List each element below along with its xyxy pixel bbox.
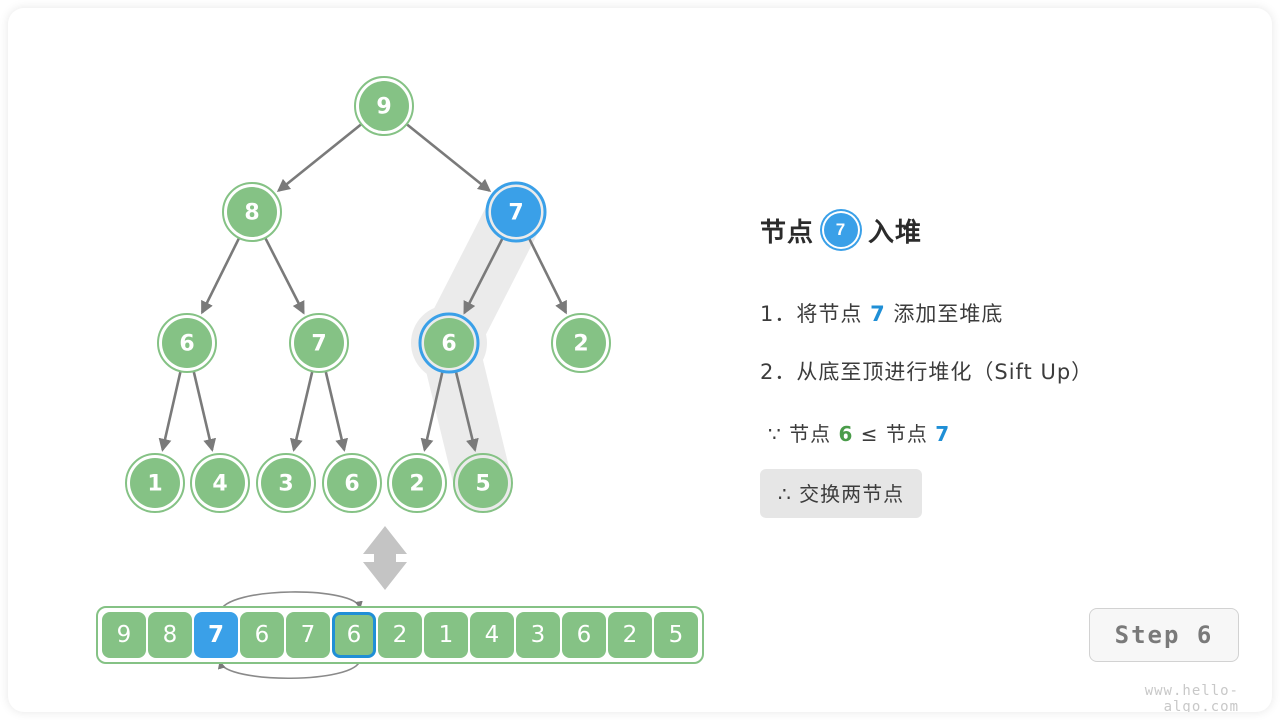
step-2-text: 2．从底至顶进行堆化（Sift Up） <box>760 356 1240 386</box>
tree-node <box>290 314 348 372</box>
node-value-label: 2 <box>573 332 588 357</box>
tree-node <box>388 454 446 512</box>
panel-title: 节点 7 入堆 <box>760 208 1240 252</box>
node-outer-ring <box>323 454 381 512</box>
tree-edge <box>464 238 502 313</box>
reason-value-child: 6 <box>838 422 853 446</box>
array-cell: 2 <box>608 612 652 658</box>
tree-edge <box>326 371 345 450</box>
node-value-label: 7 <box>311 332 326 357</box>
tree-node <box>355 77 413 135</box>
array-cell: 4 <box>470 612 514 658</box>
tree-node <box>158 314 216 372</box>
node-outer-ring <box>223 183 281 241</box>
node-circle <box>130 458 180 508</box>
node-outer-ring <box>420 314 478 372</box>
tree-edge <box>425 371 443 450</box>
tree-edge <box>265 238 303 313</box>
node-value-label: 6 <box>344 472 359 497</box>
node-circle <box>424 318 474 368</box>
tree-edge <box>163 371 181 450</box>
step-1-value: 7 <box>870 302 886 326</box>
node-value-label: 9 <box>376 95 391 120</box>
step-1-part-a: 1．将节点 <box>760 302 862 326</box>
tree-node <box>454 454 512 512</box>
node-value-label: 5 <box>475 472 490 497</box>
node-circle <box>294 318 344 368</box>
node-outer-ring <box>158 314 216 372</box>
tree-edge <box>294 371 313 450</box>
array-cell: 9 <box>102 612 146 658</box>
node-circle <box>359 81 409 131</box>
tree-array-link-arrow <box>363 526 407 590</box>
node-outer-ring <box>126 454 184 512</box>
reason-value-parent: 7 <box>935 422 950 446</box>
array-cell: 1 <box>424 612 468 658</box>
node-circle <box>261 458 311 508</box>
node-outer-ring <box>552 314 610 372</box>
node-value-label: 6 <box>441 332 456 357</box>
tree-edge <box>279 124 362 191</box>
node-value-label: 7 <box>508 201 523 226</box>
step-badge: Step 6 <box>1089 608 1239 662</box>
tree-edges <box>163 124 566 450</box>
heap-array: 9876762143625 <box>96 606 704 664</box>
sift-up-highlight-band <box>411 212 516 483</box>
reason-part-b: 节点 <box>886 422 928 446</box>
conclusion-badge: ∴ 交换两节点 <box>760 469 922 518</box>
array-cell: 2 <box>378 612 422 658</box>
reason-text: ∵ 节点 6 ≤ 节点 7 <box>768 418 1240 447</box>
node-outer-ring <box>388 454 446 512</box>
tree-node <box>191 454 249 512</box>
explanation-panel: 节点 7 入堆 1．将节点 7 添加至堆底 2．从底至顶进行堆化（Sift Up… <box>760 208 1240 518</box>
array-cell: 7 <box>194 612 238 658</box>
tree-nodes <box>126 77 610 512</box>
tree-edge <box>194 371 213 450</box>
tree-edge <box>529 238 566 313</box>
node-value-label: 4 <box>212 472 227 497</box>
tree-node <box>323 454 381 512</box>
array-cell: 5 <box>654 612 698 658</box>
reason-part-a: 节点 <box>789 422 831 446</box>
reason-operator: ≤ <box>861 422 879 446</box>
node-circle <box>392 458 442 508</box>
node-circle <box>162 318 212 368</box>
slide-card: 9876762143625 节点 7 入堆 1．将节点 7 添加至堆底 2．从底… <box>8 8 1272 712</box>
panel-title-prefix: 节点 <box>760 212 814 249</box>
diagram-stage: 9876762143625 节点 7 入堆 1．将节点 7 添加至堆底 2．从底… <box>8 8 1272 712</box>
node-value-label: 8 <box>244 201 259 226</box>
node-value-label: 3 <box>278 472 293 497</box>
tree-node <box>257 454 315 512</box>
node-outer-ring <box>454 454 512 512</box>
array-cell: 6 <box>562 612 606 658</box>
tree-node <box>223 183 281 241</box>
step-1-text: 1．将节点 7 添加至堆底 <box>760 298 1240 328</box>
array-cell: 3 <box>516 612 560 658</box>
node-value-label: 1 <box>147 472 162 497</box>
watermark: www.hello-algo.com <box>1077 683 1239 712</box>
node-outer-ring <box>257 454 315 512</box>
tree-node <box>126 454 184 512</box>
array-cell: 6 <box>240 612 284 658</box>
panel-title-suffix: 入堆 <box>868 212 922 249</box>
tree-node <box>420 314 478 372</box>
node-outer-ring <box>290 314 348 372</box>
node-circle <box>195 458 245 508</box>
array-cell: 8 <box>148 612 192 658</box>
array-cell: 7 <box>286 612 330 658</box>
panel-title-node-badge: 7 <box>824 213 858 247</box>
tree-edge <box>456 371 475 450</box>
node-outer-ring <box>355 77 413 135</box>
node-circle <box>556 318 606 368</box>
node-circle <box>227 187 277 237</box>
node-circle <box>458 458 508 508</box>
node-outer-ring <box>191 454 249 512</box>
node-value-label: 6 <box>179 332 194 357</box>
tree-node <box>487 183 545 241</box>
step-1-part-b: 添加至堆底 <box>893 302 1003 326</box>
because-symbol: ∵ <box>768 422 782 446</box>
tree-node <box>552 314 610 372</box>
node-circle <box>491 187 541 237</box>
array-cell: 6 <box>332 612 376 658</box>
node-outer-ring <box>487 183 545 241</box>
node-value-label: 2 <box>409 472 424 497</box>
tree-edge <box>202 238 239 313</box>
node-circle <box>327 458 377 508</box>
tree-edge <box>407 124 490 191</box>
